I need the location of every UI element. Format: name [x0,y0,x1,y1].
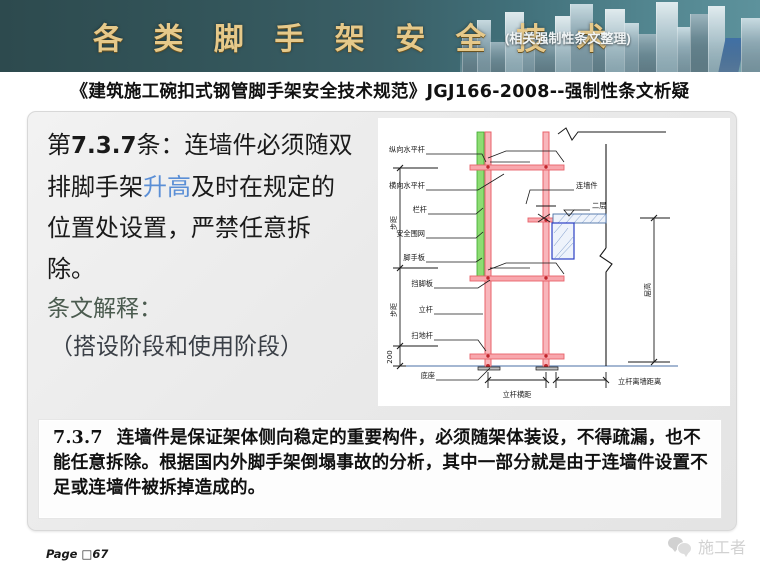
watermark: 施工者 [668,531,746,561]
label-vertical-pole: 立杆 [419,305,433,314]
clause-after-number: 条：连墙件必须随 [137,131,329,159]
watermark-text: 施工者 [698,534,746,558]
page-number: Page □67 [46,547,108,561]
page-label: Page [46,547,78,561]
clause-line2-b: 及时在规 [191,173,287,201]
quote-text: 连墙件是保证架体侧向稳定的重要构件，必须随架体装设，不得疏漏，也不能任意拆除。根… [53,428,708,498]
label-longitudinal-horizontal-bar: 纵向水平杆 [389,145,425,154]
label-wall-tie: 连墙件 [576,181,598,190]
label-toe-board: 挡脚板 [411,279,433,288]
label-step-distance-lower: 步距 [390,303,398,317]
page-box-glyph: □ [82,547,93,561]
label-dim-200: 200 [386,350,394,363]
clause-text: 第7.3.7条：连墙件必须随双排脚手架升高及时在规定的位置处设置，严禁任意拆除。 [47,125,357,290]
quote-box: 7.3.7连墙件是保证架体侧向稳定的重要构件，必须随架体装设，不得疏漏，也不能任… [38,419,722,519]
clause-number: 7.3.7 [71,133,137,159]
banner-subtitle: (相关强制性条文整理) [505,28,631,47]
label-sweeping-bar: 扫地杆 [411,331,433,340]
page-number-value: 67 [92,547,108,561]
label-step-distance-upper: 步距 [390,216,398,230]
clause-highlight: 升高 [143,173,191,201]
label-pole-wall-distance: 立杆离墙距离 [618,377,661,386]
header-banner: 各 类 脚 手 架 安 全 技 术 (相关强制性条文整理) [0,0,760,72]
label-pole-transverse-spacing: 立杆横距 [503,390,532,399]
clause-explanation-label: 条文解释： [47,289,357,329]
label-floor-height: 层高 [643,283,652,297]
label-scaffold-board: 脚手板 [403,253,425,262]
label-second-floor: 二层 [592,201,606,210]
document-title: 《建筑施工碗扣式钢管脚手架安全技术规范》JGJ166-2008--强制性条文析疑 [0,78,760,103]
clause-stage-note: （搭设阶段和使用阶段） [50,327,370,367]
label-safety-net: 安全围网 [396,229,425,238]
scaffold-diagram-svg: 步距 步距 200 [378,118,730,406]
label-guardrail: 栏杆 [413,205,427,214]
wechat-icon [668,536,692,556]
label-base: 底座 [421,371,435,380]
scaffold-diagram: 步距 步距 200 [378,118,730,406]
clause-prefix: 第 [47,131,71,159]
quote-number: 7.3.7 [53,428,103,448]
label-transverse-horizontal-bar: 横向水平杆 [389,181,425,190]
